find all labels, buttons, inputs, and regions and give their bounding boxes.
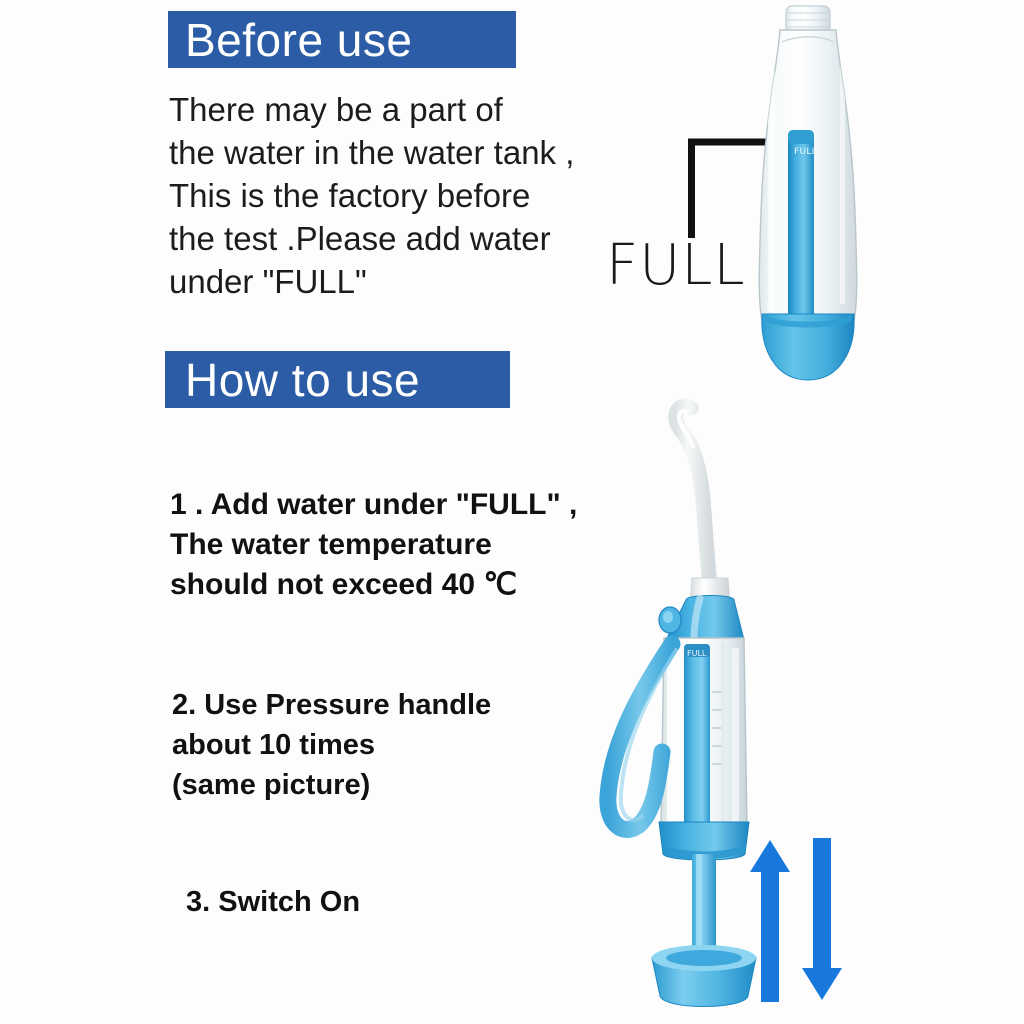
svg-text:FULL: FULL xyxy=(794,147,817,157)
arrow-down-icon xyxy=(802,838,842,1000)
pump-motion-arrows-icon xyxy=(748,832,844,1008)
instruction-sheet: Before use There may be a part of the wa… xyxy=(0,0,1024,1024)
banner-label-how-to-use: How to use xyxy=(185,353,420,407)
step-item-3: 3. Switch On xyxy=(186,882,360,922)
water-tank-photo: FULL xyxy=(742,2,874,390)
before-use-body-text: There may be a part of the water in the … xyxy=(169,88,599,303)
step-item-1: 1 . Add water under "FULL" , The water t… xyxy=(170,485,620,605)
arrow-up-icon xyxy=(750,840,790,1002)
step-item-2: 2. Use Pressure handle about 10 times (s… xyxy=(172,685,572,805)
full-callout-label: FULL xyxy=(606,238,746,294)
section-banner-how-to-use: How to use xyxy=(165,351,510,408)
svg-text:FULL: FULL xyxy=(687,649,707,658)
section-banner-before-use: Before use xyxy=(168,11,516,68)
banner-label-before-use: Before use xyxy=(185,13,412,67)
